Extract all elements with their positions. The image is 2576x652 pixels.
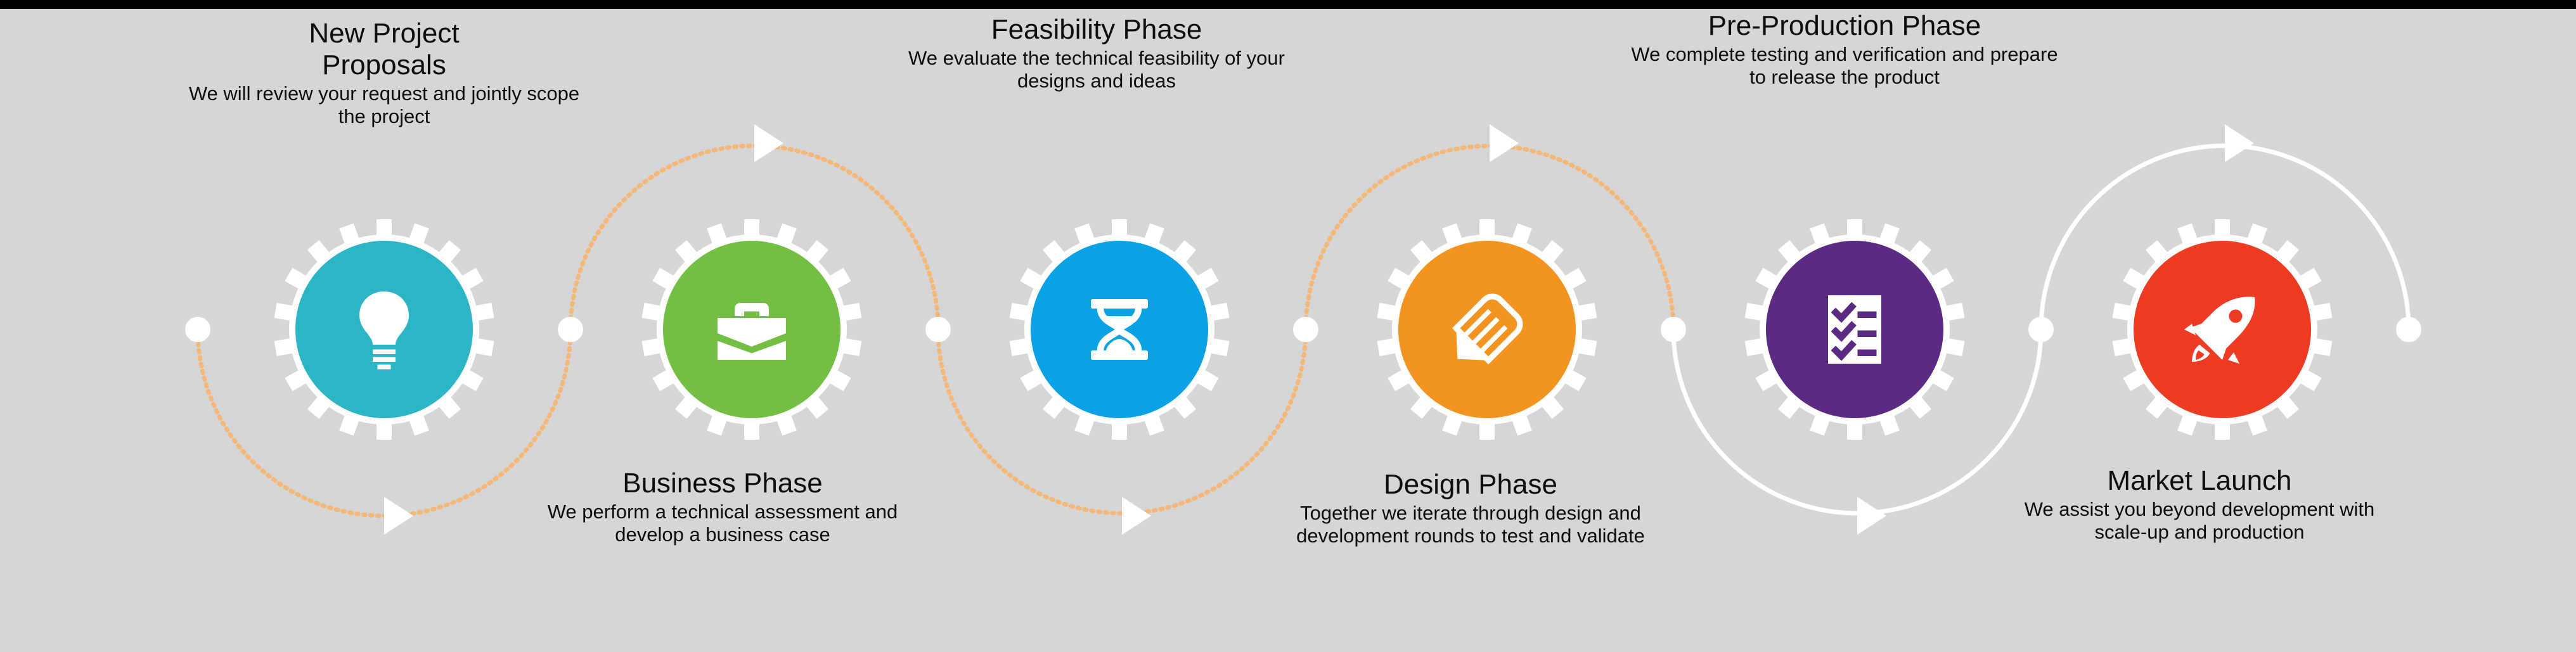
arrow-head-5 [1857, 497, 1886, 535]
step-label-1: New Project Proposals We will review you… [181, 18, 587, 128]
step-description-4: Together we iterate through design and d… [1261, 502, 1680, 547]
gear-shape-6 [2102, 209, 2343, 450]
step-title-3: Feasibility Phase [887, 14, 1306, 46]
connector-dot-1 [558, 317, 583, 342]
gear-shape-1 [264, 209, 505, 450]
arrow-head-1 [384, 497, 413, 535]
step-description-1: We will review your request and jointly … [181, 82, 587, 128]
step-title-1: New Project Proposals [181, 18, 587, 81]
arrow-head-2 [754, 124, 783, 162]
step-label-6: Market Launch We assist you beyond devel… [1997, 465, 2402, 544]
pencil-icon [1439, 282, 1535, 377]
arrow-head-3 [1122, 497, 1151, 535]
process-roadmap-diagram: New Project Proposals We will review you… [0, 0, 2576, 652]
step-title-4: Design Phase [1261, 469, 1680, 501]
icon-disc-6 [2134, 241, 2311, 418]
checklist-icon [1807, 282, 1902, 377]
gear-shape-5 [1734, 209, 1975, 450]
connector-dot-start [185, 317, 210, 342]
icon-disc-5 [1766, 241, 1943, 418]
step-label-5: Pre-Production Phase We complete testing… [1623, 10, 2066, 89]
top-border-bar [0, 0, 2576, 9]
step-label-2: Business Phase We perform a technical as… [520, 468, 925, 546]
icon-disc-4 [1398, 241, 1576, 418]
icon-disc-2 [663, 241, 840, 418]
connector-dot-5 [2028, 317, 2054, 342]
briefcase-icon [704, 282, 799, 377]
connector-dot-3 [1293, 317, 1318, 342]
step-description-6: We assist you beyond development with sc… [1997, 498, 2402, 544]
connector-dot-2 [925, 317, 951, 342]
step-description-2: We perform a technical assessment and de… [520, 501, 925, 546]
connector-dot-4 [1661, 317, 1686, 342]
arrow-head-4 [1490, 124, 1519, 162]
step-title-5: Pre-Production Phase [1623, 10, 2066, 42]
step-label-4: Design Phase Together we iterate through… [1261, 469, 1680, 547]
arrow-head-6 [2225, 124, 2254, 162]
step-description-5: We complete testing and verification and… [1623, 43, 2066, 89]
rocket-icon [2175, 282, 2270, 377]
hourglass-icon [1072, 282, 1167, 377]
lightbulb-icon [337, 282, 432, 377]
step-title-2: Business Phase [520, 468, 925, 499]
gear-shape-2 [631, 209, 872, 450]
icon-disc-1 [295, 241, 473, 418]
step-label-3: Feasibility Phase We evaluate the techni… [887, 14, 1306, 93]
step-title-6: Market Launch [1997, 465, 2402, 497]
icon-disc-3 [1031, 241, 1208, 418]
gear-shape-4 [1367, 209, 1607, 450]
gear-shape-3 [999, 209, 1240, 450]
step-description-3: We evaluate the technical feasibility of… [887, 47, 1306, 93]
connector-dot-end [2396, 317, 2421, 342]
